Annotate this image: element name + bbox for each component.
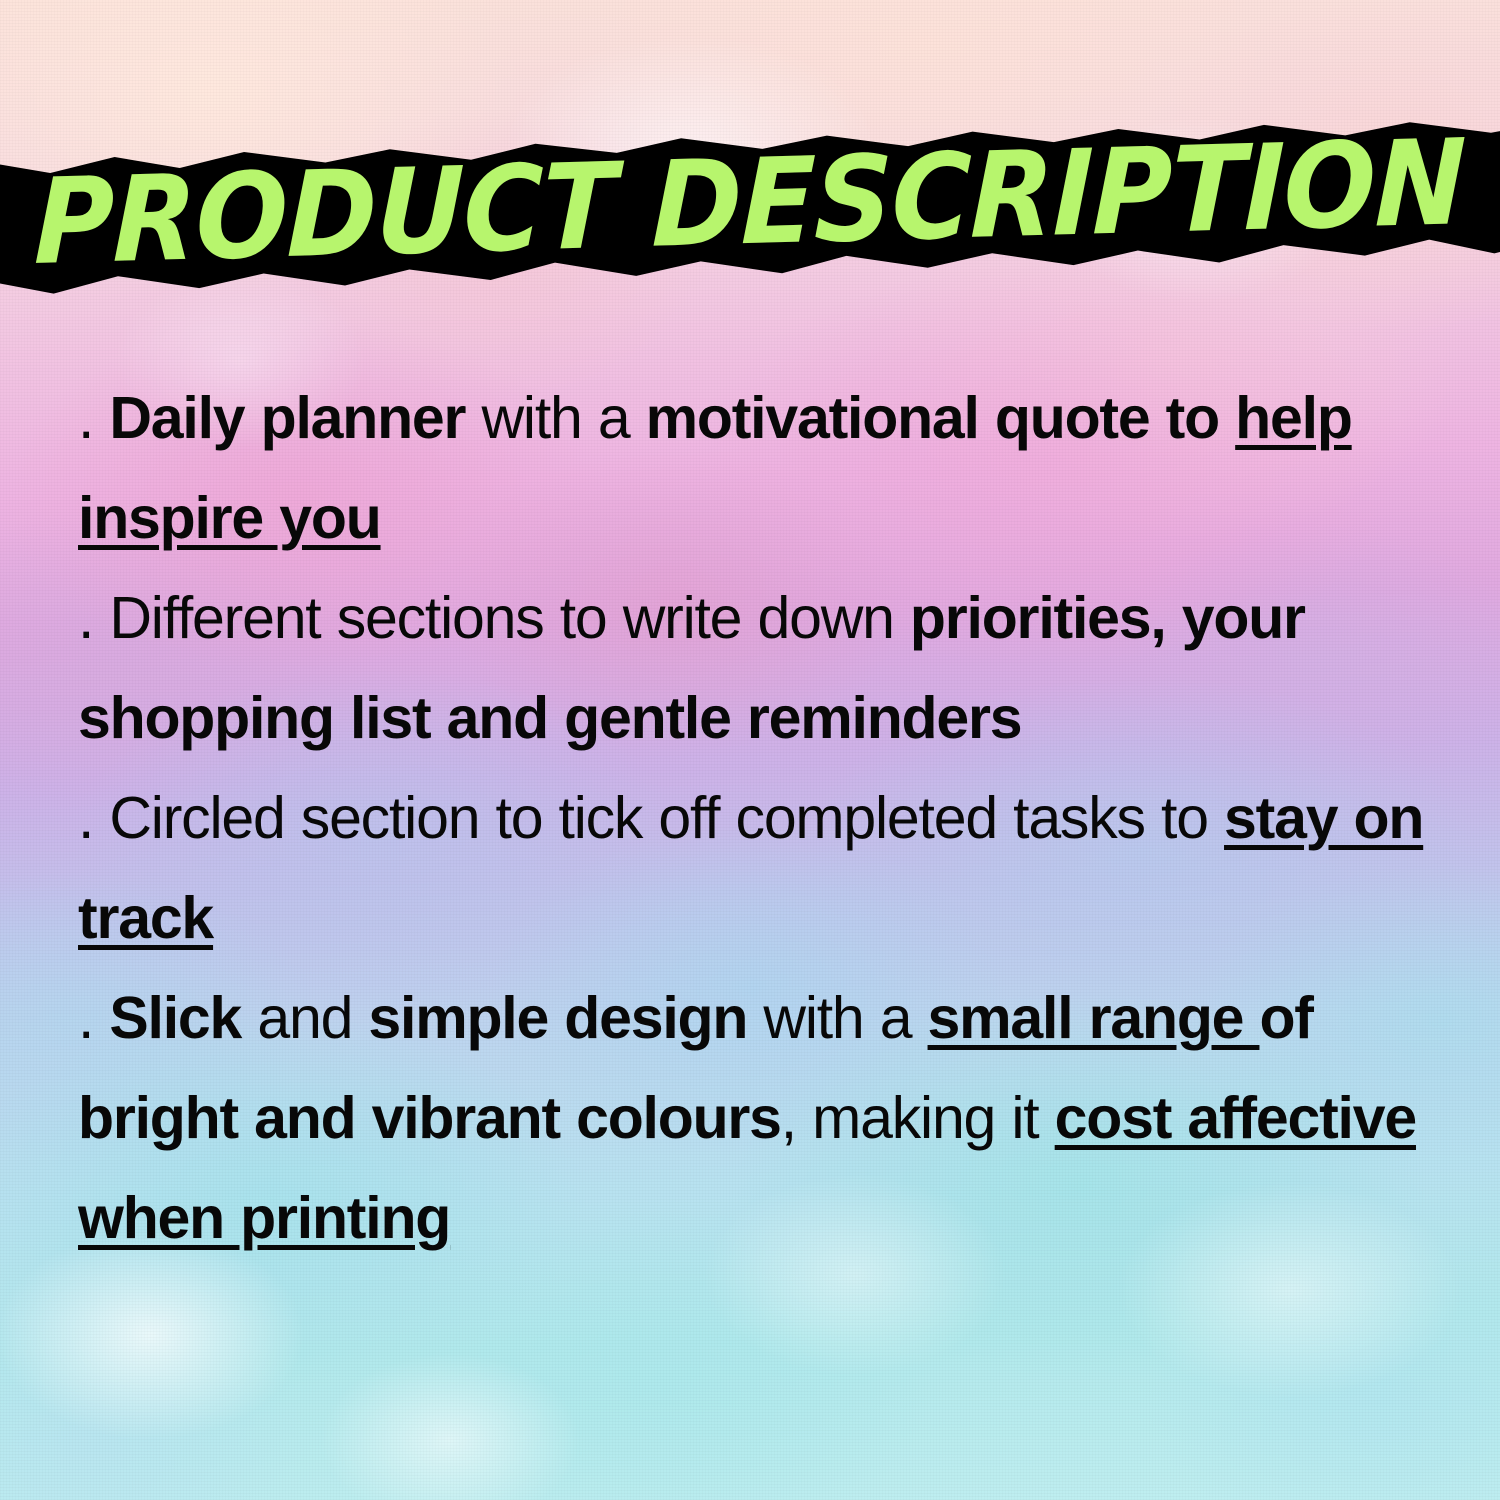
text-run-regular: and (241, 985, 368, 1051)
page-title: PRODUCT DESCRIPTION (0, 108, 1500, 298)
list-item-4: . Slick and simple design with a small r… (78, 968, 1426, 1268)
title-text: PRODUCT DESCRIPTION (30, 107, 1471, 299)
text-run-bold: simple design (368, 985, 747, 1051)
text-run-regular: with a (747, 985, 927, 1051)
text-run-regular: . (78, 385, 109, 451)
text-run-bold: Slick (109, 985, 241, 1051)
list-item-2: . Different sections to write down prior… (78, 568, 1426, 768)
list-item-3: . Circled section to tick off completed … (78, 768, 1426, 968)
text-run-regular: with a (465, 385, 645, 451)
text-run-bold-underline: small range (928, 985, 1260, 1051)
text-run-bold: Daily planner (109, 385, 465, 451)
poster-canvas: PRODUCT DESCRIPTION . Daily planner with… (0, 0, 1500, 1500)
text-run-regular: , making it (781, 1085, 1055, 1151)
text-run-regular: . Different sections to write down (78, 585, 910, 651)
description-list: . Daily planner with a motivational quot… (78, 368, 1426, 1268)
list-item-1: . Daily planner with a motivational quot… (78, 368, 1426, 568)
text-run-bold: motivational quote to (646, 385, 1236, 451)
text-run-regular: . Circled section to tick off completed … (78, 785, 1224, 851)
text-run-regular: . (78, 985, 109, 1051)
